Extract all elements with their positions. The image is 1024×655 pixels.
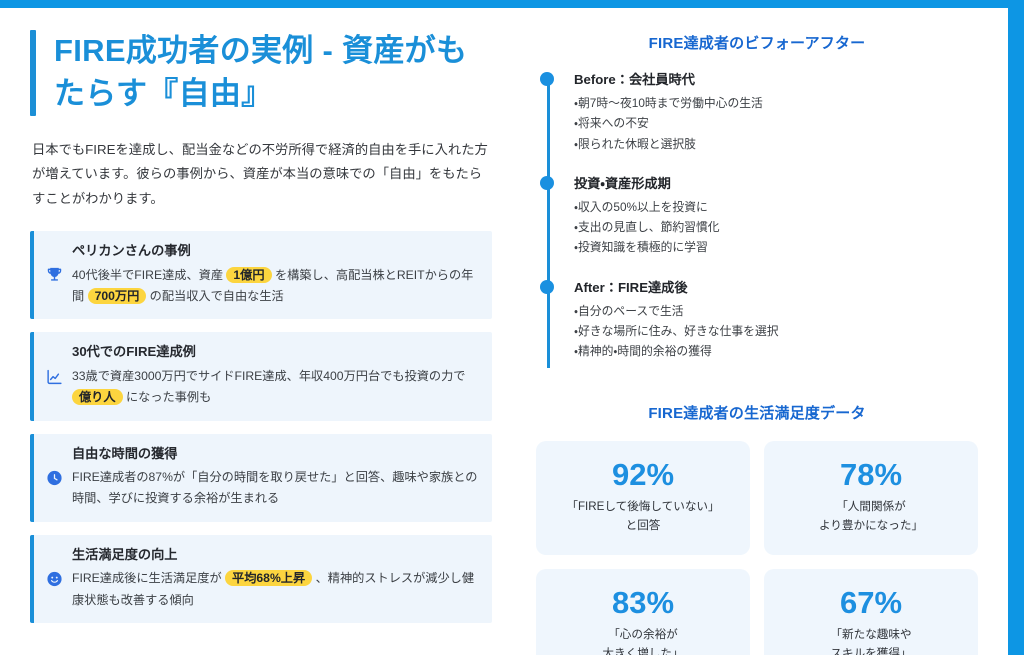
case-card-title: 30代でのFIRE達成例 [72, 343, 478, 361]
case-card-body: 40代後半でFIRE達成、資産 1億円 を構築し、高配当株とREITからの年間 … [72, 265, 478, 308]
hero-header: FIRE成功者の実例 - 資産がもたらす『自由』 [30, 30, 492, 116]
timeline-item: Before：会社員時代・朝7時〜夜10時まで労働中心の生活・将来への不安・限ら… [574, 69, 986, 154]
stat-card: 83%「心の余裕が大きく増した」 [536, 569, 750, 655]
stat-card: 92%「FIREして後悔していない」と回答 [536, 441, 750, 555]
page-content: FIRE成功者の実例 - 資産がもたらす『自由』 日本でもFIREを達成し、配当… [0, 8, 1008, 655]
case-card-title: ペリカンさんの事例 [72, 242, 478, 260]
timeline-bullet: ・限られた休暇と選択肢 [574, 134, 986, 154]
body-text: 40代後半でFIRE達成、資産 [72, 268, 226, 282]
stat-card: 78%「人間関係がより豊かになった」 [764, 441, 978, 555]
trophy-icon [46, 267, 63, 284]
body-text: になった事例も [123, 390, 212, 404]
timeline-item-heading: Before：会社員時代 [574, 69, 986, 88]
highlight-pill: 平均68%上昇 [225, 570, 312, 586]
case-card: 自由な時間の獲得FIRE達成者の87%が「自分の時間を取り戻せた」と回答、趣味や… [30, 434, 492, 522]
case-card-list: ペリカンさんの事例40代後半でFIRE達成、資産 1億円 を構築し、高配当株とR… [30, 231, 492, 623]
body-text: FIRE達成者の87%が「自分の時間を取り戻せた」と回答、趣味や家族との時間、学… [72, 470, 477, 505]
body-text: 33歳で資産3000万円でサイドFIRE達成、年収400万円台でも投資の力で [72, 369, 465, 383]
hero-accent-bar [30, 30, 36, 116]
stat-label: 「心の余裕が大きく増した」 [602, 626, 683, 655]
right-column: FIRE達成者のビフォーアフター Before：会社員時代・朝7時〜夜10時まで… [520, 8, 1008, 655]
case-card: ペリカンさんの事例40代後半でFIRE達成、資産 1億円 を構築し、高配当株とR… [30, 231, 492, 319]
timeline-dot-icon [540, 72, 554, 86]
stat-label-line: 「FIREして後悔していない」 [566, 498, 719, 517]
stat-label-line: スキルを獲得」 [830, 645, 911, 655]
highlight-pill: 1億円 [226, 267, 271, 283]
timeline-bullet: ・将来への不安 [574, 113, 986, 133]
timeline-item-heading: After：FIRE達成後 [574, 277, 986, 296]
lead-paragraph: 日本でもFIREを達成し、配当金などの不労所得で経済的自由を手に入れた方が増えて… [32, 138, 492, 212]
timeline-item-heading: 投資・資産形成期 [574, 173, 986, 192]
stat-value: 78% [840, 458, 902, 491]
stat-label-line: 「新たな趣味や [830, 626, 911, 645]
satisfaction-stats-grid: 92%「FIREして後悔していない」と回答78%「人間関係がより豊かになった」8… [528, 441, 986, 655]
page-title: FIRE成功者の実例 - 資産がもたらす『自由』 [54, 30, 492, 116]
left-column: FIRE成功者の実例 - 資産がもたらす『自由』 日本でもFIREを達成し、配当… [0, 8, 520, 655]
chart-line-icon [46, 368, 63, 385]
timeline-bullet: ・好きな場所に住み、好きな仕事を選択 [574, 321, 986, 341]
timeline-bullet: ・精神的・時間的余裕の獲得 [574, 341, 986, 361]
case-card-body: 33歳で資産3000万円でサイドFIRE達成、年収400万円台でも投資の力で 億… [72, 366, 478, 409]
stat-label-line: より豊かになった」 [819, 517, 923, 536]
stat-value: 83% [612, 586, 674, 619]
right-accent-bar [1008, 0, 1024, 655]
case-card: 生活満足度の向上FIRE達成後に生活満足度が 平均68%上昇 、精神的ストレスが… [30, 535, 492, 623]
highlight-pill: 700万円 [88, 288, 147, 304]
case-card-title: 自由な時間の獲得 [72, 445, 478, 463]
timeline-bullet: ・自分のペースで生活 [574, 301, 986, 321]
timeline-bullet: ・投資知識を積極的に学習 [574, 237, 986, 257]
stat-label: 「人間関係がより豊かになった」 [819, 498, 923, 536]
case-card-body: FIRE達成後に生活満足度が 平均68%上昇 、精神的ストレスが減少し健康状態も… [72, 568, 478, 611]
timeline-item: 投資・資産形成期・収入の50%以上を投資に・支出の見直し、節約習慣化・投資知識を… [574, 173, 986, 258]
timeline-bullet: ・支出の見直し、節約習慣化 [574, 217, 986, 237]
timeline-dot-icon [540, 280, 554, 294]
top-accent-bar [0, 0, 1024, 8]
highlight-pill: 億り人 [72, 389, 123, 405]
timeline-section-title: FIRE達成者のビフォーアフター [528, 32, 986, 53]
case-card-body: FIRE達成者の87%が「自分の時間を取り戻せた」と回答、趣味や家族との時間、学… [72, 467, 478, 510]
stat-label-line: 「心の余裕が [602, 626, 683, 645]
stats-section-title: FIRE達成者の生活満足度データ [528, 402, 986, 423]
stat-label: 「新たな趣味やスキルを獲得」 [830, 626, 911, 655]
case-card-title: 生活満足度の向上 [72, 546, 478, 564]
stat-label-line: 大きく増した」 [602, 645, 683, 655]
stat-label-line: 「人間関係が [819, 498, 923, 517]
body-text: FIRE達成後に生活満足度が [72, 571, 225, 585]
timeline-bullet: ・朝7時〜夜10時まで労働中心の生活 [574, 93, 986, 113]
stat-value: 67% [840, 586, 902, 619]
smiley-icon [46, 570, 63, 587]
stat-label: 「FIREして後悔していない」と回答 [566, 498, 719, 536]
timeline-bullet: ・収入の50%以上を投資に [574, 197, 986, 217]
case-card: 30代でのFIRE達成例33歳で資産3000万円でサイドFIRE達成、年収400… [30, 332, 492, 420]
before-after-timeline: Before：会社員時代・朝7時〜夜10時まで労働中心の生活・将来への不安・限ら… [528, 69, 986, 368]
stat-value: 92% [612, 458, 674, 491]
timeline-item: After：FIRE達成後・自分のペースで生活・好きな場所に住み、好きな仕事を選… [574, 277, 986, 362]
stat-label-line: と回答 [566, 517, 719, 536]
timeline-axis-line [547, 75, 550, 368]
clock-icon [46, 469, 63, 486]
body-text: の配当収入で自由な生活 [146, 289, 283, 303]
stat-card: 67%「新たな趣味やスキルを獲得」 [764, 569, 978, 655]
timeline-dot-icon [540, 176, 554, 190]
